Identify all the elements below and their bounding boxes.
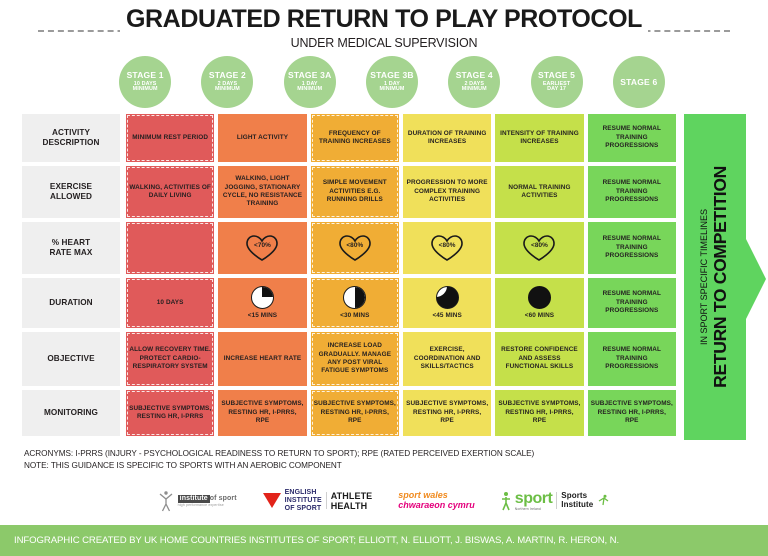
cell-text: INCREASE HEART RATE [224,355,301,363]
guidance-note: NOTE: THIS GUIDANCE IS SPECIFIC TO SPORT… [24,460,768,472]
cell-r3-c3[interactable]: <45 MINS [403,278,491,328]
stage-header-cell: STAGE 3A1 DAYMINIMUM [269,56,351,112]
logo-ios-line1: institute [178,495,210,503]
logo-eis-text: ENGLISH INSTITUTE OF SPORT [285,489,322,512]
stage-name: STAGE 5 [538,71,575,80]
duration-label: <45 MINS [432,312,461,320]
cell-r4-c3[interactable]: EXERCISE, COORDINATION AND SKILLS/TACTIC… [403,332,491,386]
stage-header-row: STAGE 110 DAYSMINIMUMSTAGE 22 DAYSMINIMU… [0,56,768,112]
cell-r4-c0[interactable]: ALLOW RECOVERY TIME. PROTECT CARDIO-RESP… [126,332,214,386]
moon-full-icon [528,286,551,309]
row-label-exercise-allowed: EXERCISEALLOWED [22,166,120,218]
credit-text: INFOGRAPHIC CREATED BY UK HOME COUNTRIES… [0,535,619,546]
page-subtitle: UNDER MEDICAL SUPERVISION [0,36,768,50]
stage-header-cell: STAGE 5EARLIESTDAY 17 [515,56,597,112]
cell-text: 10 DAYS [157,299,184,307]
cell-text: RESUME NORMAL TRAINING PROGRESSIONS [591,235,673,260]
stage-circle-7[interactable]: STAGE 6 [613,56,665,108]
stage-header-cell: STAGE 3B1 DAYMINIMUM [351,56,433,112]
cell-r5-c1[interactable]: SUBJECTIVE SYMPTOMS, RESTING HR, I-PRRS,… [218,390,306,436]
logo-institute-of-sport-text: instituteof sport high performance exper… [178,495,237,507]
cell-text: INTENSITY OF TRAINING INCREASES [498,130,580,147]
cell-r3-c0[interactable]: 10 DAYS [126,278,214,328]
stage-name: STAGE 2 [209,71,246,80]
logo-institute-of-sport: instituteof sport high performance exper… [158,490,237,512]
table-row: % HEARTRATE MAX<70%<80%<80%<80%RESUME NO… [0,222,676,274]
cell-text: RESUME NORMAL TRAINING PROGRESSIONS [591,125,673,150]
return-to-competition-label: RETURN TO COMPETITION [710,166,731,388]
stage-name: STAGE 4 [456,71,493,80]
row-label-heart-rate-max: % HEARTRATE MAX [22,222,120,274]
cell-r5-c3[interactable]: SUBJECTIVE SYMPTOMS, RESTING HR, I-PRRS,… [403,390,491,436]
protocol-grid: ACTIVITYDESCRIPTIONMINIMUM REST PERIODLI… [0,114,676,440]
table-row: OBJECTIVEALLOW RECOVERY TIME. PROTECT CA… [0,332,676,386]
cell-r2-c1[interactable]: <70% [218,222,306,274]
stage-name: STAGE 3A [288,71,331,80]
cell-r1-c4[interactable]: NORMAL TRAINING ACTIVITIES [495,166,583,218]
logo-sport-northern-ireland: sport Northern Ireland Sports Institute [501,490,611,512]
stage-duration: 1 DAYMINIMUM [380,82,405,93]
athlete-figure-icon [158,490,174,512]
cell-text: EXERCISE, COORDINATION AND SKILLS/TACTIC… [406,346,488,371]
row-label-objective: OBJECTIVE [22,332,120,386]
cell-r3-c2[interactable]: <30 MINS [311,278,399,328]
cell-r1-c0[interactable]: WALKING, ACTIVITIES OF DAILY LIVING [126,166,214,218]
stage-duration: 2 DAYSMINIMUM [215,82,240,93]
cell-text: RESUME NORMAL TRAINING PROGRESSIONS [591,346,673,371]
logo-sport-wales-text: sport wales chwaraeon cymru [398,491,475,511]
cell-r0-c2[interactable]: FREQUENCY OF TRAINING INCREASES [311,114,399,162]
cell-text: PROGRESSION TO MORE COMPLEX TRAINING ACT… [406,179,488,204]
cell-r1-c5[interactable]: RESUME NORMAL TRAINING PROGRESSIONS [588,166,676,218]
cell-r0-c1[interactable]: LIGHT ACTIVITY [218,114,306,162]
cell-text: SUBJECTIVE SYMPTOMS, RESTING HR, I-PRRS,… [221,400,303,425]
cell-text: ALLOW RECOVERY TIME. PROTECT CARDIO-RESP… [129,346,211,371]
stage-duration: EARLIESTDAY 17 [543,82,570,93]
cell-r2-c2[interactable]: <80% [311,222,399,274]
stage-header-cell: STAGE 110 DAYSMINIMUM [104,56,186,112]
header: GRADUATED RETURN TO PLAY PROTOCOL UNDER … [0,0,768,50]
cell-r2-c4[interactable]: <80% [495,222,583,274]
sport-ni-figure-icon [501,491,511,511]
stage-header-cell: STAGE 22 DAYSMINIMUM [186,56,268,112]
cell-r3-c5[interactable]: RESUME NORMAL TRAINING PROGRESSIONS [588,278,676,328]
eis-chevron-icon [263,493,281,508]
cell-r5-c4[interactable]: SUBJECTIVE SYMPTOMS, RESTING HR, I-PRRS,… [495,390,583,436]
cell-r4-c2[interactable]: INCREASE LOAD GRADUALLY. MANAGE ANY POST… [311,332,399,386]
logo-ah-line2: HEALTH [331,501,373,511]
cell-text: WALKING, ACTIVITIES OF DAILY LIVING [129,184,211,201]
cell-text: FREQUENCY OF TRAINING INCREASES [314,130,396,147]
cell-text: LIGHT ACTIVITY [237,134,288,142]
logo-ios-line3: high performance expertise [178,503,237,507]
stage-circle-3[interactable]: STAGE 3A1 DAYMINIMUM [284,56,336,108]
cell-r4-c5[interactable]: RESUME NORMAL TRAINING PROGRESSIONS [588,332,676,386]
stage-circle-2[interactable]: STAGE 22 DAYSMINIMUM [201,56,253,108]
logo-sw-line2: chwaraeon cymru [398,501,475,511]
stage-duration: 2 DAYSMINIMUM [462,82,487,93]
stage-circle-1[interactable]: STAGE 110 DAYSMINIMUM [119,56,171,108]
cell-text: WALKING, LIGHT JOGGING, STATIONARY CYCLE… [221,175,303,209]
logo-athlete-health-text: ATHLETE HEALTH [331,491,373,511]
logo-ah-line1: ATHLETE [331,491,373,501]
table-row: ACTIVITYDESCRIPTIONMINIMUM REST PERIODLI… [0,114,676,162]
return-to-competition-arrow: RETURN TO COMPETITION IN SPORT SPECIFIC … [680,114,768,440]
cell-text: SUBJECTIVE SYMPTOMS, RESTING HR, I-PRRS,… [591,400,673,425]
cell-text: RESTORE CONFIDENCE AND ASSESS FUNCTIONAL… [498,346,580,371]
logo-english-institute-of-sport: ENGLISH INSTITUTE OF SPORT ATHLETE HEALT… [263,489,373,512]
duration-label: <30 MINS [340,312,369,320]
page-title: GRADUATED RETURN TO PLAY PROTOCOL [120,4,648,34]
duration-label: <15 MINS [248,312,277,320]
stage-circle-4[interactable]: STAGE 3B1 DAYMINIMUM [366,56,418,108]
duration-label: <60 MINS [525,312,554,320]
heart-icon: <80% [430,234,464,262]
cell-r4-c1[interactable]: INCREASE HEART RATE [218,332,306,386]
stage-circle-5[interactable]: STAGE 42 DAYSMINIMUM [448,56,500,108]
cell-text: SIMPLE MOVEMENT ACTIVITIES E.G. RUNNING … [314,179,396,204]
stage-circle-6[interactable]: STAGE 5EARLIESTDAY 17 [531,56,583,108]
cell-r5-c5[interactable]: SUBJECTIVE SYMPTOMS, RESTING HR, I-PRRS,… [588,390,676,436]
logo-strip: instituteof sport high performance exper… [0,481,768,521]
cell-text: SUBJECTIVE SYMPTOMS, RESTING HR, I-PRRS,… [498,400,580,425]
stage-row-spacer [0,56,104,112]
logo-si-line2: Institute [561,501,593,510]
row-label-duration: DURATION [22,278,120,328]
cell-text: SUBJECTIVE SYMPTOMS, RESTING HR, I-PRRS,… [406,400,488,425]
credit-bar: INFOGRAPHIC CREATED BY UK HOME COUNTRIES… [0,525,768,556]
table-row: DURATION10 DAYS<15 MINS<30 MINS<45 MINS<… [0,278,676,328]
logo-eis-line1: ENGLISH [285,489,322,497]
heart-icon: <70% [245,234,279,262]
cell-r5-c0[interactable]: SUBJECTIVE SYMPTOMS, RESTING HR, I-PRRS [126,390,214,436]
moon-half-icon [343,286,366,309]
cell-text: INCREASE LOAD GRADUALLY. MANAGE ANY POST… [314,342,396,376]
cell-text: MINIMUM REST PERIOD [132,134,208,142]
cell-r1-c2[interactable]: SIMPLE MOVEMENT ACTIVITIES E.G. RUNNING … [311,166,399,218]
row-label-activity-description: ACTIVITYDESCRIPTION [22,114,120,162]
cell-text: SUBJECTIVE SYMPTOMS, RESTING HR, I-PRRS [129,405,211,422]
logo-eis-line3: OF SPORT [285,505,322,513]
cell-r4-c4[interactable]: RESTORE CONFIDENCE AND ASSESS FUNCTIONAL… [495,332,583,386]
cell-r1-c1[interactable]: WALKING, LIGHT JOGGING, STATIONARY CYCLE… [218,166,306,218]
cell-r3-c4[interactable]: <60 MINS [495,278,583,328]
infographic-root: GRADUATED RETURN TO PLAY PROTOCOL UNDER … [0,0,768,556]
cell-text: SUBJECTIVE SYMPTOMS, RESTING HR, I-PRRS,… [314,400,396,425]
logo-sni-line1: sport [515,490,553,508]
cell-r2-c5[interactable]: RESUME NORMAL TRAINING PROGRESSIONS [588,222,676,274]
cell-r2-c3[interactable]: <80% [403,222,491,274]
stage-row-arrow-spacer [680,56,768,112]
acronyms-note: ACRONYMS: I-PRRS (INJURY - PSYCHOLOGICAL… [24,448,768,460]
protocol-grid-wrap: ACTIVITYDESCRIPTIONMINIMUM REST PERIODLI… [0,114,768,440]
cell-r0-c5[interactable]: RESUME NORMAL TRAINING PROGRESSIONS [588,114,676,162]
logo-eis-line2: INSTITUTE [285,497,322,505]
moon-three-quarter-icon [436,286,459,309]
stage-name: STAGE 1 [127,71,164,80]
logo-sport-wales: sport wales chwaraeon cymru [398,491,475,511]
cell-r0-c0[interactable]: MINIMUM REST PERIOD [126,114,214,162]
cell-r3-c1[interactable]: <15 MINS [218,278,306,328]
cell-text: RESUME NORMAL TRAINING PROGRESSIONS [591,290,673,315]
cell-text: NORMAL TRAINING ACTIVITIES [498,184,580,201]
cell-r1-c3[interactable]: PROGRESSION TO MORE COMPLEX TRAINING ACT… [403,166,491,218]
logo-ios-line2: of sport [210,495,237,502]
row-label-monitoring: MONITORING [22,390,120,436]
cell-r0-c3[interactable]: DURATION OF TRAINING INCREASES [403,114,491,162]
logo-sni-line2: Northern Ireland [515,508,553,512]
footnotes: ACRONYMS: I-PRRS (INJURY - PSYCHOLOGICAL… [24,448,768,473]
table-row: MONITORINGSUBJECTIVE SYMPTOMS, RESTING H… [0,390,676,436]
stage-name: STAGE 3B [370,71,413,80]
cell-text: RESUME NORMAL TRAINING PROGRESSIONS [591,179,673,204]
cell-r0-c4[interactable]: INTENSITY OF TRAINING INCREASES [495,114,583,162]
stage-header-cell: STAGE 6 [598,56,680,112]
logo-sni-text: sport Northern Ireland [515,490,553,512]
moon-quarter-icon [251,286,274,309]
cell-r2-c0[interactable] [126,222,214,274]
return-to-competition-sublabel: IN SPORT SPECIFIC TIMELINES [699,209,709,345]
stage-duration: 10 DAYSMINIMUM [133,82,158,93]
table-row: EXERCISEALLOWEDWALKING, ACTIVITIES OF DA… [0,166,676,218]
cell-r5-c2[interactable]: SUBJECTIVE SYMPTOMS, RESTING HR, I-PRRS,… [311,390,399,436]
cell-text: DURATION OF TRAINING INCREASES [406,130,488,147]
heart-icon: <80% [338,234,372,262]
logo-sports-institute-text: Sports Institute [561,492,593,510]
stage-header-cell: STAGE 42 DAYSMINIMUM [433,56,515,112]
stage-duration: 1 DAYMINIMUM [297,82,322,93]
heart-icon: <80% [522,234,556,262]
stage-name: STAGE 6 [620,78,657,87]
logo-divider-2 [556,492,557,509]
sports-institute-figure-icon [597,494,610,507]
logo-divider [326,492,327,509]
